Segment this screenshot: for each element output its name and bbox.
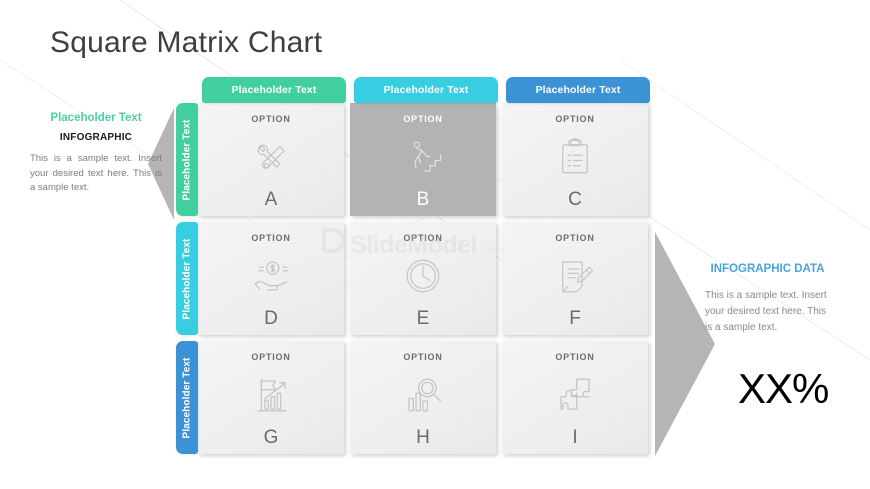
matrix-cell-i-option: OPTION	[555, 352, 594, 362]
row-header-tab-1[interactable]: Placeholder Text	[176, 103, 198, 216]
matrix-cell-c-letter: C	[568, 190, 582, 216]
matrix-cell-e-letter: E	[417, 309, 430, 335]
column-header-tab-1-label: Placeholder Text	[232, 84, 317, 96]
right-description-panel: INFOGRAPHIC DATA This is a sample text. …	[705, 262, 830, 336]
matrix-cell-f-letter: F	[569, 309, 581, 335]
column-header-tab-2-label: Placeholder Text	[384, 84, 469, 96]
clipboard-checklist-icon	[502, 124, 648, 190]
matrix-cell-g-option: OPTION	[251, 352, 290, 362]
column-header-tab-1[interactable]: Placeholder Text	[202, 77, 346, 103]
row-header-tab-3-label: Placeholder Text	[182, 357, 193, 438]
matrix-cell-h-letter: H	[416, 428, 430, 454]
matrix-cell-f-option: OPTION	[555, 233, 594, 243]
magnifier-bar-chart-icon	[350, 362, 496, 428]
page-title: Square Matrix Chart	[50, 26, 322, 60]
matrix-cell-g[interactable]: OPTION G	[198, 341, 344, 454]
row-header-tab-1-label: Placeholder Text	[182, 119, 193, 200]
row-header-tab-2[interactable]: Placeholder Text	[176, 222, 198, 335]
hand-holding-money-icon	[198, 243, 344, 309]
matrix-cell-d-letter: D	[264, 309, 278, 335]
row-header-tabs: Placeholder Text Placeholder Text Placeh…	[176, 103, 198, 458]
matrix-cell-b-option: OPTION	[403, 114, 442, 124]
matrix-cell-i-letter: I	[572, 428, 577, 454]
matrix-cell-e[interactable]: OPTION E	[350, 222, 496, 335]
column-header-tab-3[interactable]: Placeholder Text	[506, 77, 650, 103]
row-header-tab-2-label: Placeholder Text	[182, 238, 193, 319]
matrix-cell-a-letter: A	[265, 190, 278, 216]
right-panel-big-value: XX%	[738, 368, 828, 410]
matrix-cell-f[interactable]: OPTION F	[502, 222, 648, 335]
matrix-cell-c-option: OPTION	[555, 114, 594, 124]
column-header-tab-3-label: Placeholder Text	[536, 84, 621, 96]
column-header-tabs: Placeholder Text Placeholder Text Placeh…	[202, 77, 650, 103]
matrix-cell-d[interactable]: OPTION D	[198, 222, 344, 335]
matrix-cell-e-option: OPTION	[403, 233, 442, 243]
matrix-cell-a[interactable]: OPTION A	[198, 103, 344, 216]
puzzle-pieces-icon	[502, 362, 648, 428]
left-panel-heading: Placeholder Text	[30, 112, 162, 124]
matrix-cell-a-option: OPTION	[251, 114, 290, 124]
column-header-tab-2[interactable]: Placeholder Text	[354, 77, 498, 103]
left-panel-subheading: INFOGRAPHIC	[30, 132, 162, 143]
clock-icon	[350, 243, 496, 309]
matrix-cell-c[interactable]: OPTION C	[502, 103, 648, 216]
flag-growth-chart-icon	[198, 362, 344, 428]
matrix-cell-h-option: OPTION	[403, 352, 442, 362]
matrix-grid: OPTION A OPTION B OPTION	[198, 103, 650, 458]
document-pencil-icon	[502, 243, 648, 309]
tools-icon	[198, 124, 344, 190]
right-panel-body: This is a sample text. Insert your desir…	[705, 288, 830, 336]
matrix-cell-i[interactable]: OPTION I	[502, 341, 648, 454]
left-panel-body: This is a sample text. Insert your desir…	[30, 152, 162, 196]
matrix-cell-g-letter: G	[264, 428, 279, 454]
left-description-panel: Placeholder Text INFOGRAPHIC This is a s…	[30, 112, 162, 196]
matrix-cell-b-letter: B	[417, 190, 430, 216]
row-header-tab-3[interactable]: Placeholder Text	[176, 341, 198, 454]
matrix-cell-b[interactable]: OPTION B	[350, 103, 496, 216]
right-panel-heading: INFOGRAPHIC DATA	[705, 262, 830, 278]
matrix-cell-d-option: OPTION	[251, 233, 290, 243]
matrix-cell-h[interactable]: OPTION H	[350, 341, 496, 454]
person-climbing-stairs-icon	[350, 124, 496, 190]
